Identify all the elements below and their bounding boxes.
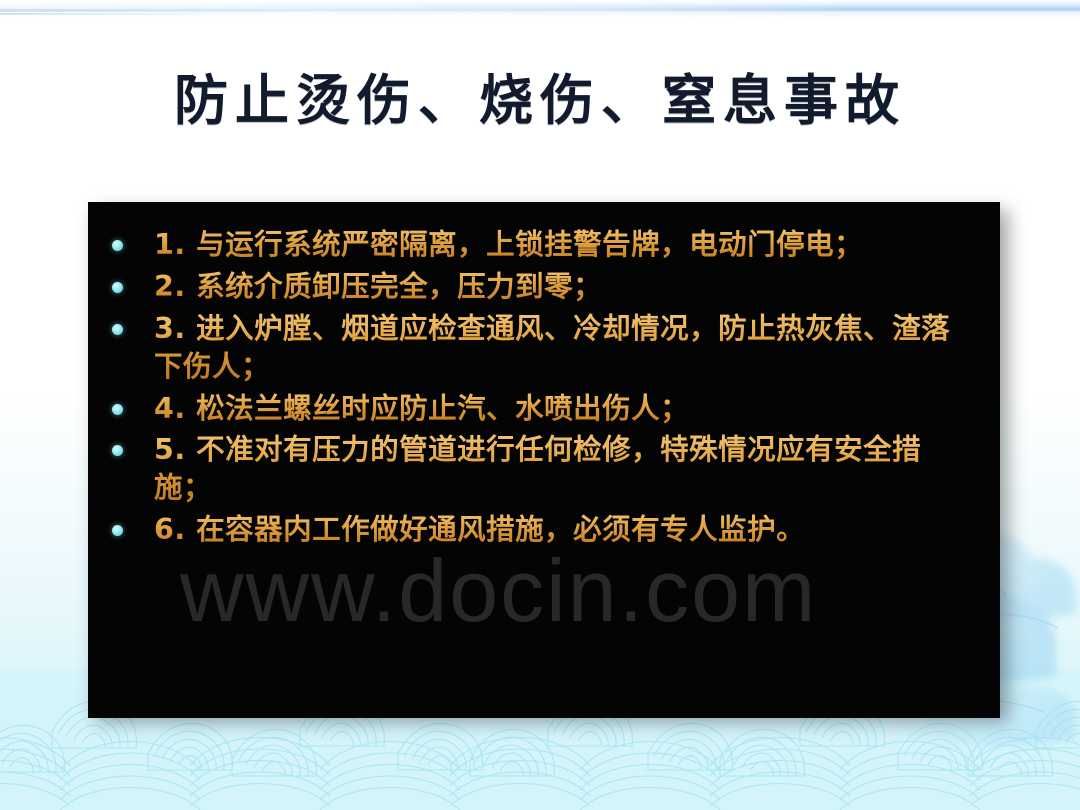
top-banner-streak-tertiary — [0, 13, 240, 15]
list-item: 1. 与运行系统严密隔离，上锁挂警告牌，电动门停电； — [88, 226, 1000, 264]
list-item: 4. 松法兰螺丝时应防止汽、水喷出伤人； — [88, 390, 1000, 428]
list-item-text: 1. 与运行系统严密隔离，上锁挂警告牌，电动门停电； — [154, 228, 863, 261]
list-item: 3. 进入炉膛、烟道应检查通风、冷却情况，防止热灰焦、渣落下伤人； — [88, 310, 1000, 386]
list-item: 5. 不准对有压力的管道进行任何检修，特殊情况应有安全措施； — [88, 431, 1000, 507]
list-item-text: 3. 进入炉膛、烟道应检查通风、冷却情况，防止热灰焦、渣落下伤人； — [154, 312, 950, 383]
list-item: 6. 在容器内工作做好通风措施，必须有专人监护。 — [88, 511, 1000, 549]
list-item-text: 5. 不准对有压力的管道进行任何检修，特殊情况应有安全措施； — [154, 433, 921, 504]
list-item: 2. 系统介质卸压完全，压力到零； — [88, 268, 1000, 306]
watermark-text: www.docin.com — [180, 540, 880, 642]
page-title-container: 防止烫伤、烧伤、窒息事故 — [0, 56, 1080, 135]
list-item-text: 6. 在容器内工作做好通风措施，必须有专人监护。 — [154, 513, 805, 546]
bullet-dot-icon — [112, 404, 123, 415]
bullet-dot-icon — [112, 525, 123, 536]
bullet-list: 1. 与运行系统严密隔离，上锁挂警告牌，电动门停电； 2. 系统介质卸压完全，压… — [88, 226, 1000, 553]
bullet-dot-icon — [112, 282, 123, 293]
bullet-dot-icon — [112, 240, 123, 251]
bullet-dot-icon — [112, 445, 123, 456]
page-title: 防止烫伤、烧伤、窒息事故 — [174, 56, 906, 135]
top-banner-streak-secondary — [0, 9, 760, 12]
slide-canvas: 防止烫伤、烧伤、窒息事故 www.docin.com 1. 与运行系统严密隔离，… — [0, 0, 1080, 810]
list-item-text: 2. 系统介质卸压完全，压力到零； — [154, 270, 602, 303]
content-panel: www.docin.com 1. 与运行系统严密隔离，上锁挂警告牌，电动门停电；… — [88, 202, 1000, 718]
list-item-text: 4. 松法兰螺丝时应防止汽、水喷出伤人； — [154, 392, 689, 425]
bullet-dot-icon — [112, 324, 123, 335]
